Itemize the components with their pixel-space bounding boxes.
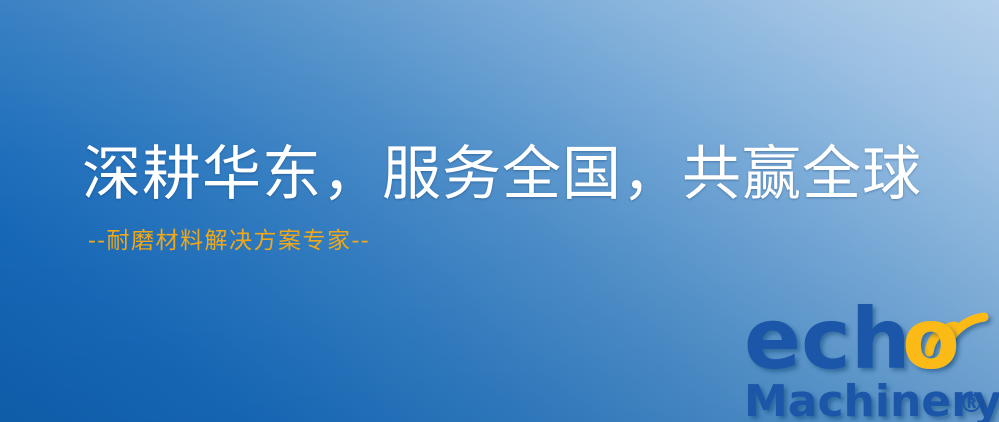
promo-banner: 深耕华东，服务全国，共赢全球 --耐磨材料解决方案专家-- ech o Mach… xyxy=(0,0,999,422)
banner-subtitle: --耐磨材料解决方案专家-- xyxy=(88,228,922,256)
company-logo[interactable]: ech o Machinery ® xyxy=(744,296,999,422)
banner-headline: 深耕华东，服务全国，共赢全球 xyxy=(82,142,922,206)
logo-wordmark-accent: o xyxy=(902,290,960,388)
logo-wordmark-prefix: ech xyxy=(744,290,911,388)
banner-text-block: 深耕华东，服务全国，共赢全球 --耐磨材料解决方案专家-- xyxy=(82,142,922,255)
logo-registered-mark: ® xyxy=(959,389,984,418)
